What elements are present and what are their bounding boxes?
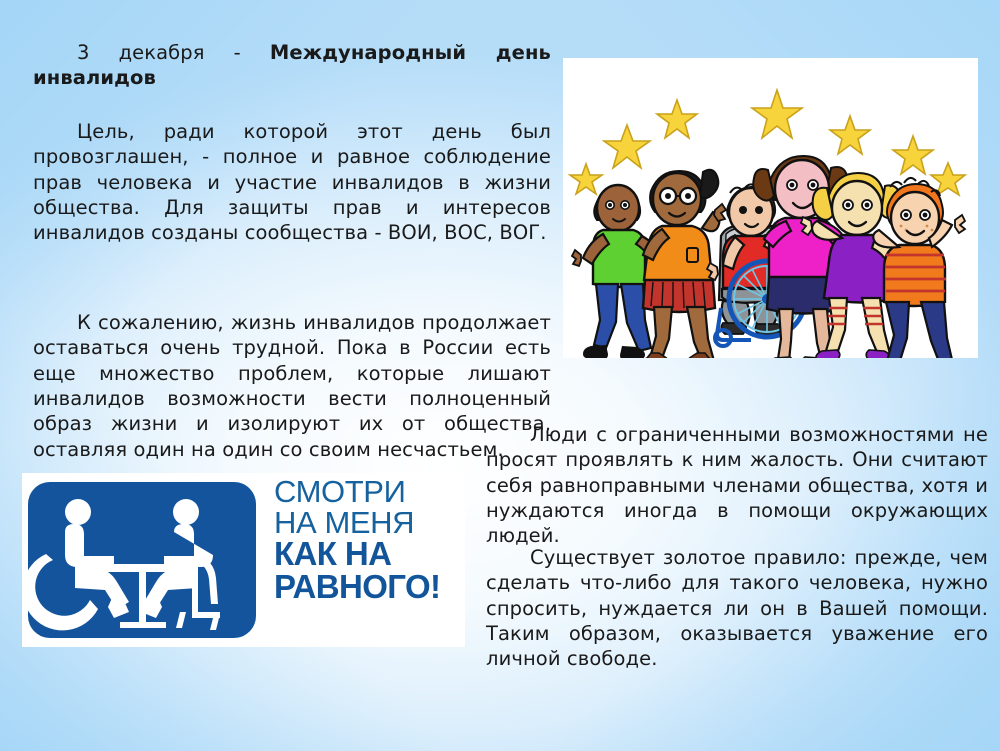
sign-line-4: РАВНОГО! [274,571,464,604]
paragraph-people: Люди с ограниченными возможностями не пр… [486,422,988,549]
slide-title: 3 декабря - Международный день инвалидов [33,40,551,91]
paragraph-goal-text: Цель, ради которой этот день был провозг… [33,120,551,244]
paragraph-goal: Цель, ради которой этот день был провозг… [33,119,551,246]
wheelchair-user-at-table-icon [28,482,256,638]
slide-canvas: 3 декабря - Международный день инвалидов… [0,0,1000,751]
children-illustration-svg [563,58,978,358]
children-holding-hands-image [563,58,978,358]
paragraph-problems: К сожалению, жизнь инвалидов продолжает … [33,310,551,462]
sign-line-2: НА МЕНЯ [274,508,464,539]
paragraph-problems-text: К сожалению, жизнь инвалидов продолжает … [33,311,551,461]
paragraph-rule-text: Существует золотое правило: прежде, чем … [486,546,988,670]
sign-line-3: КАК НА [274,538,464,571]
accessibility-badge [28,482,256,638]
sign-slogan: СМОТРИ НА МЕНЯ КАК НА РАВНОГО! [274,477,464,604]
title-lead-text: 3 декабря - [77,41,270,64]
sign-line-1: СМОТРИ [274,477,464,508]
paragraph-people-text: Люди с ограниченными возможностями не пр… [486,423,988,547]
look-at-me-as-equal-sign-image: СМОТРИ НА МЕНЯ КАК НА РАВНОГО! [22,473,465,647]
paragraph-rule: Существует золотое правило: прежде, чем … [486,545,988,672]
